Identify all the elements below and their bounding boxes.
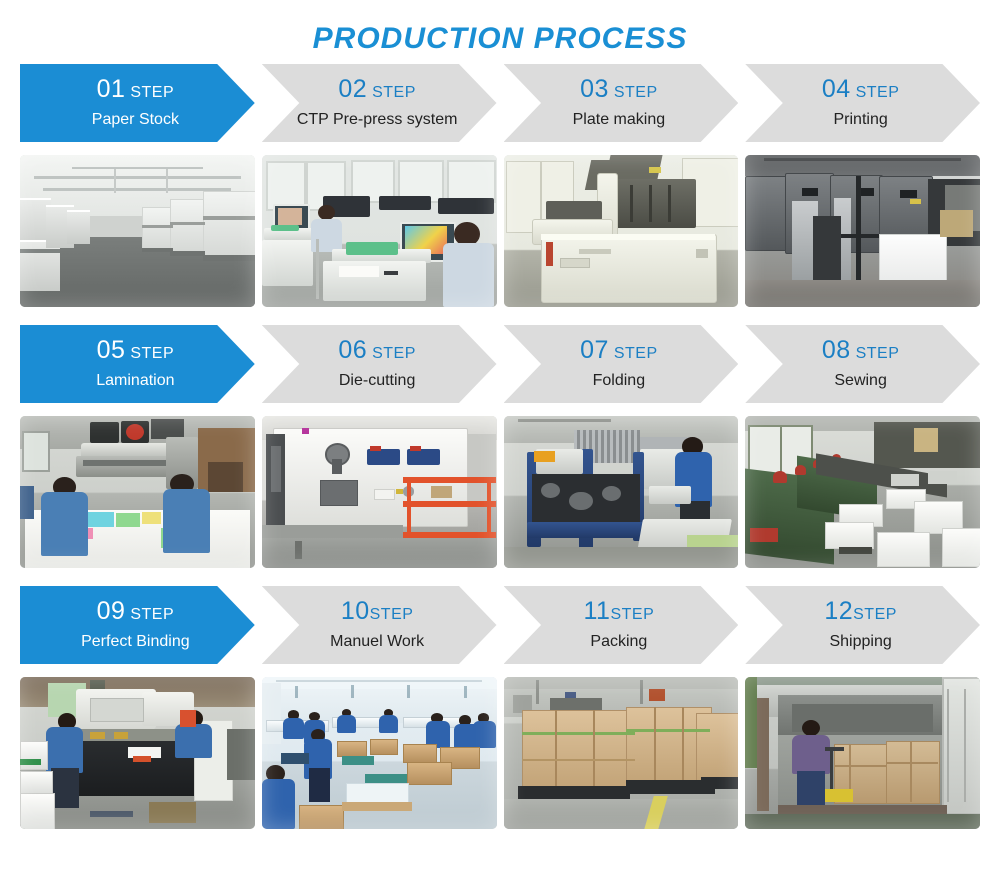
step-01-heading: 01 STEP — [97, 77, 175, 102]
step-07-word: STEP — [609, 345, 658, 362]
step-10-number: 10 — [341, 597, 370, 625]
step-10-label: Manuel Work — [330, 633, 424, 651]
step-03-label: Plate making — [573, 111, 666, 129]
photo-lamination-workers — [20, 416, 255, 568]
step-08-number: 08 — [822, 336, 851, 364]
step-02-word: STEP — [367, 84, 416, 101]
step-11-label: Packing — [590, 633, 647, 651]
step-03-word: STEP — [609, 84, 658, 101]
step-row-2: 05 STEP Lamination 06 STEP Die-cutting 0… — [20, 325, 980, 403]
step-04-word: STEP — [851, 84, 900, 101]
photo-ctp-prepress-office — [262, 155, 497, 307]
photo-paper-stock-warehouse — [20, 155, 255, 307]
step-01-word: STEP — [125, 84, 174, 101]
step-08-heading: 08 STEP — [822, 338, 900, 363]
step-card-10[interactable]: 10STEP Manuel Work — [262, 586, 497, 664]
photo-perfect-binding-machine — [20, 677, 255, 829]
step-11-word: STEP — [610, 606, 654, 623]
step-card-02[interactable]: 02 STEP CTP Pre-press system — [262, 64, 497, 142]
page-title: PRODUCTION PROCESS — [313, 22, 688, 56]
photo-container-loading — [745, 677, 980, 829]
step-05-number: 05 — [97, 336, 126, 364]
step-card-04[interactable]: 04 STEP Printing — [745, 64, 980, 142]
step-card-11[interactable]: 11STEP Packing — [504, 586, 739, 664]
step-card-12[interactable]: 12STEP Shipping — [745, 586, 980, 664]
photo-row-3 — [20, 677, 980, 829]
step-02-heading: 02 STEP — [338, 77, 416, 102]
step-08-label: Sewing — [834, 372, 886, 390]
step-07-number: 07 — [580, 336, 609, 364]
step-03-heading: 03 STEP — [580, 77, 658, 102]
step-04-heading: 04 STEP — [822, 77, 900, 102]
step-01-label: Paper Stock — [92, 111, 179, 129]
step-row-1: 01 STEP Paper Stock 02 STEP CTP Pre-pres… — [20, 64, 980, 142]
photo-plate-making-machine — [504, 155, 739, 307]
step-card-05[interactable]: 05 STEP Lamination — [20, 325, 255, 403]
step-12-number: 12 — [824, 597, 853, 625]
photo-row-2 — [20, 416, 980, 568]
step-06-label: Die-cutting — [339, 372, 415, 390]
step-06-number: 06 — [338, 336, 367, 364]
step-09-label: Perfect Binding — [81, 633, 190, 651]
photo-packed-cartons-pallets — [504, 677, 739, 829]
step-05-word: STEP — [125, 345, 174, 362]
page-header: PRODUCTION PROCESS — [0, 0, 1000, 56]
step-05-label: Lamination — [96, 372, 174, 390]
step-08-word: STEP — [851, 345, 900, 362]
step-11-number: 11 — [584, 597, 611, 625]
photo-folding-machine — [504, 416, 739, 568]
step-07-label: Folding — [593, 372, 645, 390]
photo-offset-printing-press — [745, 155, 980, 307]
photo-row-1 — [20, 155, 980, 307]
step-05-heading: 05 STEP — [97, 338, 175, 363]
step-card-07[interactable]: 07 STEP Folding — [504, 325, 739, 403]
photo-manual-work-hall — [262, 677, 497, 829]
photo-sewing-machine-row — [745, 416, 980, 568]
step-01-number: 01 — [97, 75, 126, 103]
step-card-09[interactable]: 09 STEP Perfect Binding — [20, 586, 255, 664]
step-12-label: Shipping — [829, 633, 891, 651]
step-06-heading: 06 STEP — [338, 338, 416, 363]
step-09-word: STEP — [125, 606, 174, 623]
step-02-number: 02 — [338, 75, 367, 103]
step-04-label: Printing — [834, 111, 888, 129]
step-03-number: 03 — [580, 75, 609, 103]
step-12-word: STEP — [853, 606, 897, 623]
step-row-3: 09 STEP Perfect Binding 10STEP Manuel Wo… — [20, 586, 980, 664]
step-11-heading: 11STEP — [584, 599, 655, 624]
step-12-heading: 12STEP — [824, 599, 897, 624]
photo-die-cutting-machine — [262, 416, 497, 568]
process-board: 01 STEP Paper Stock 02 STEP CTP Pre-pres… — [0, 64, 1000, 829]
step-10-word: STEP — [370, 606, 414, 623]
step-04-number: 04 — [822, 75, 851, 103]
step-02-label: CTP Pre-press system — [297, 111, 458, 129]
step-card-08[interactable]: 08 STEP Sewing — [745, 325, 980, 403]
step-card-01[interactable]: 01 STEP Paper Stock — [20, 64, 255, 142]
step-card-06[interactable]: 06 STEP Die-cutting — [262, 325, 497, 403]
step-09-number: 09 — [97, 597, 126, 625]
step-09-heading: 09 STEP — [97, 599, 175, 624]
step-card-03[interactable]: 03 STEP Plate making — [504, 64, 739, 142]
step-10-heading: 10STEP — [341, 599, 414, 624]
step-07-heading: 07 STEP — [580, 338, 658, 363]
step-06-word: STEP — [367, 345, 416, 362]
